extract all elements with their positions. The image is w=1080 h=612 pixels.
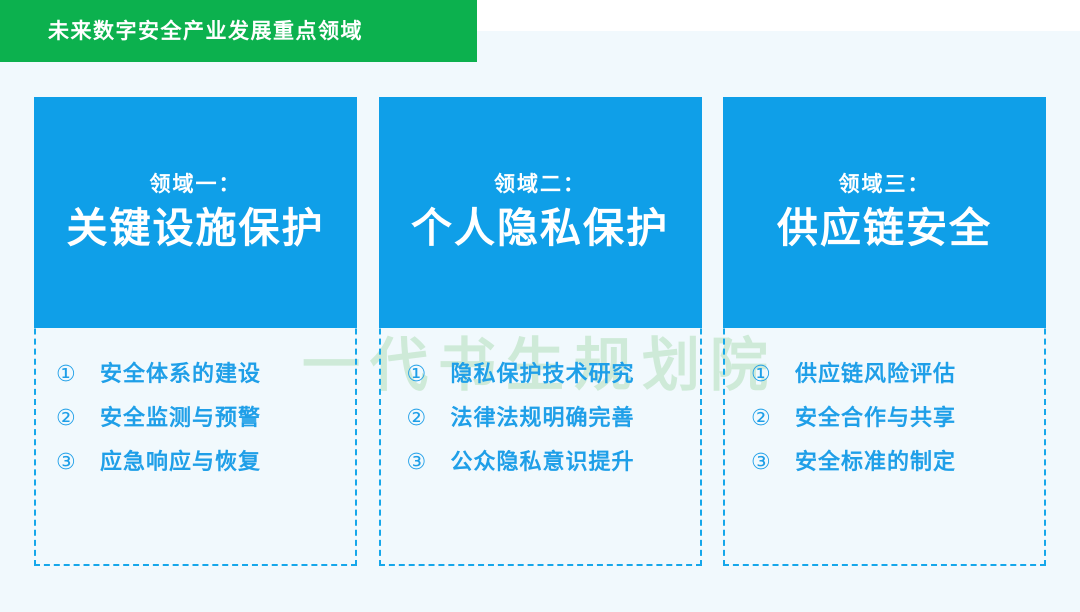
list-item-label: 公众隐私意识提升 bbox=[451, 450, 635, 474]
list-marker-icon: ③ bbox=[56, 450, 100, 474]
list-item-label: 安全标准的制定 bbox=[795, 450, 956, 474]
list-marker-icon: ③ bbox=[751, 450, 795, 474]
list-item[interactable]: ③ 公众隐私意识提升 bbox=[387, 450, 700, 474]
list-item-label: 法律法规明确完善 bbox=[451, 406, 635, 430]
domain-card-2[interactable]: 领域二： 个人隐私保护 ① 隐私保护技术研究 ② 法律法规明确完善 ③ 公众隐私… bbox=[379, 97, 702, 566]
list-item-label: 安全体系的建设 bbox=[100, 362, 261, 386]
domain-card-3[interactable]: 领域三： 供应链安全 ① 供应链风险评估 ② 安全合作与共享 ③ 安全标准的制定 bbox=[723, 97, 1046, 566]
list-marker-icon: ② bbox=[407, 406, 451, 430]
domain-card-1-eyebrow: 领域一： bbox=[150, 174, 242, 195]
list-marker-icon: ① bbox=[751, 362, 795, 386]
domain-cards-row: 领域一： 关键设施保护 ① 安全体系的建设 ② 安全监测与预警 ③ 应急响应与恢… bbox=[34, 97, 1046, 566]
list-item[interactable]: ① 隐私保护技术研究 bbox=[387, 362, 700, 386]
list-item[interactable]: ① 供应链风险评估 bbox=[731, 362, 1044, 386]
list-item[interactable]: ③ 安全标准的制定 bbox=[731, 450, 1044, 474]
domain-card-2-title: 个人隐私保护 bbox=[411, 207, 669, 250]
domain-card-2-list: ① 隐私保护技术研究 ② 法律法规明确完善 ③ 公众隐私意识提升 bbox=[381, 328, 700, 564]
list-item-label: 安全合作与共享 bbox=[795, 406, 956, 430]
domain-card-1-list: ① 安全体系的建设 ② 安全监测与预警 ③ 应急响应与恢复 bbox=[36, 328, 355, 564]
list-marker-icon: ① bbox=[56, 362, 100, 386]
list-marker-icon: ① bbox=[407, 362, 451, 386]
domain-card-1-header: 领域一： 关键设施保护 bbox=[34, 97, 357, 328]
slide-title-banner: 未来数字安全产业发展重点领域 bbox=[0, 0, 477, 62]
list-item[interactable]: ② 安全监测与预警 bbox=[36, 406, 355, 430]
list-marker-icon: ③ bbox=[407, 450, 451, 474]
list-item-label: 供应链风险评估 bbox=[795, 362, 956, 386]
list-item-label: 隐私保护技术研究 bbox=[451, 362, 635, 386]
domain-card-2-header: 领域二： 个人隐私保护 bbox=[379, 97, 702, 328]
domain-card-2-eyebrow: 领域二： bbox=[494, 174, 586, 195]
list-marker-icon: ② bbox=[56, 406, 100, 430]
list-item-label: 安全监测与预警 bbox=[100, 406, 261, 430]
domain-card-1-title: 关键设施保护 bbox=[67, 207, 325, 250]
domain-card-3-list: ① 供应链风险评估 ② 安全合作与共享 ③ 安全标准的制定 bbox=[725, 328, 1044, 564]
list-item-label: 应急响应与恢复 bbox=[100, 450, 261, 474]
list-item[interactable]: ③ 应急响应与恢复 bbox=[36, 450, 355, 474]
domain-card-3-title: 供应链安全 bbox=[777, 207, 992, 250]
list-item[interactable]: ① 安全体系的建设 bbox=[36, 362, 355, 386]
list-item[interactable]: ② 安全合作与共享 bbox=[731, 406, 1044, 430]
list-marker-icon: ② bbox=[751, 406, 795, 430]
domain-card-3-eyebrow: 领域三： bbox=[839, 174, 931, 195]
domain-card-3-header: 领域三： 供应链安全 bbox=[723, 97, 1046, 328]
slide-canvas: 未来数字安全产业发展重点领域 一代书生规划院 领域一： 关键设施保护 ① 安全体… bbox=[0, 0, 1080, 612]
domain-card-1[interactable]: 领域一： 关键设施保护 ① 安全体系的建设 ② 安全监测与预警 ③ 应急响应与恢… bbox=[34, 97, 357, 566]
page-title: 未来数字安全产业发展重点领域 bbox=[48, 21, 363, 42]
list-item[interactable]: ② 法律法规明确完善 bbox=[387, 406, 700, 430]
